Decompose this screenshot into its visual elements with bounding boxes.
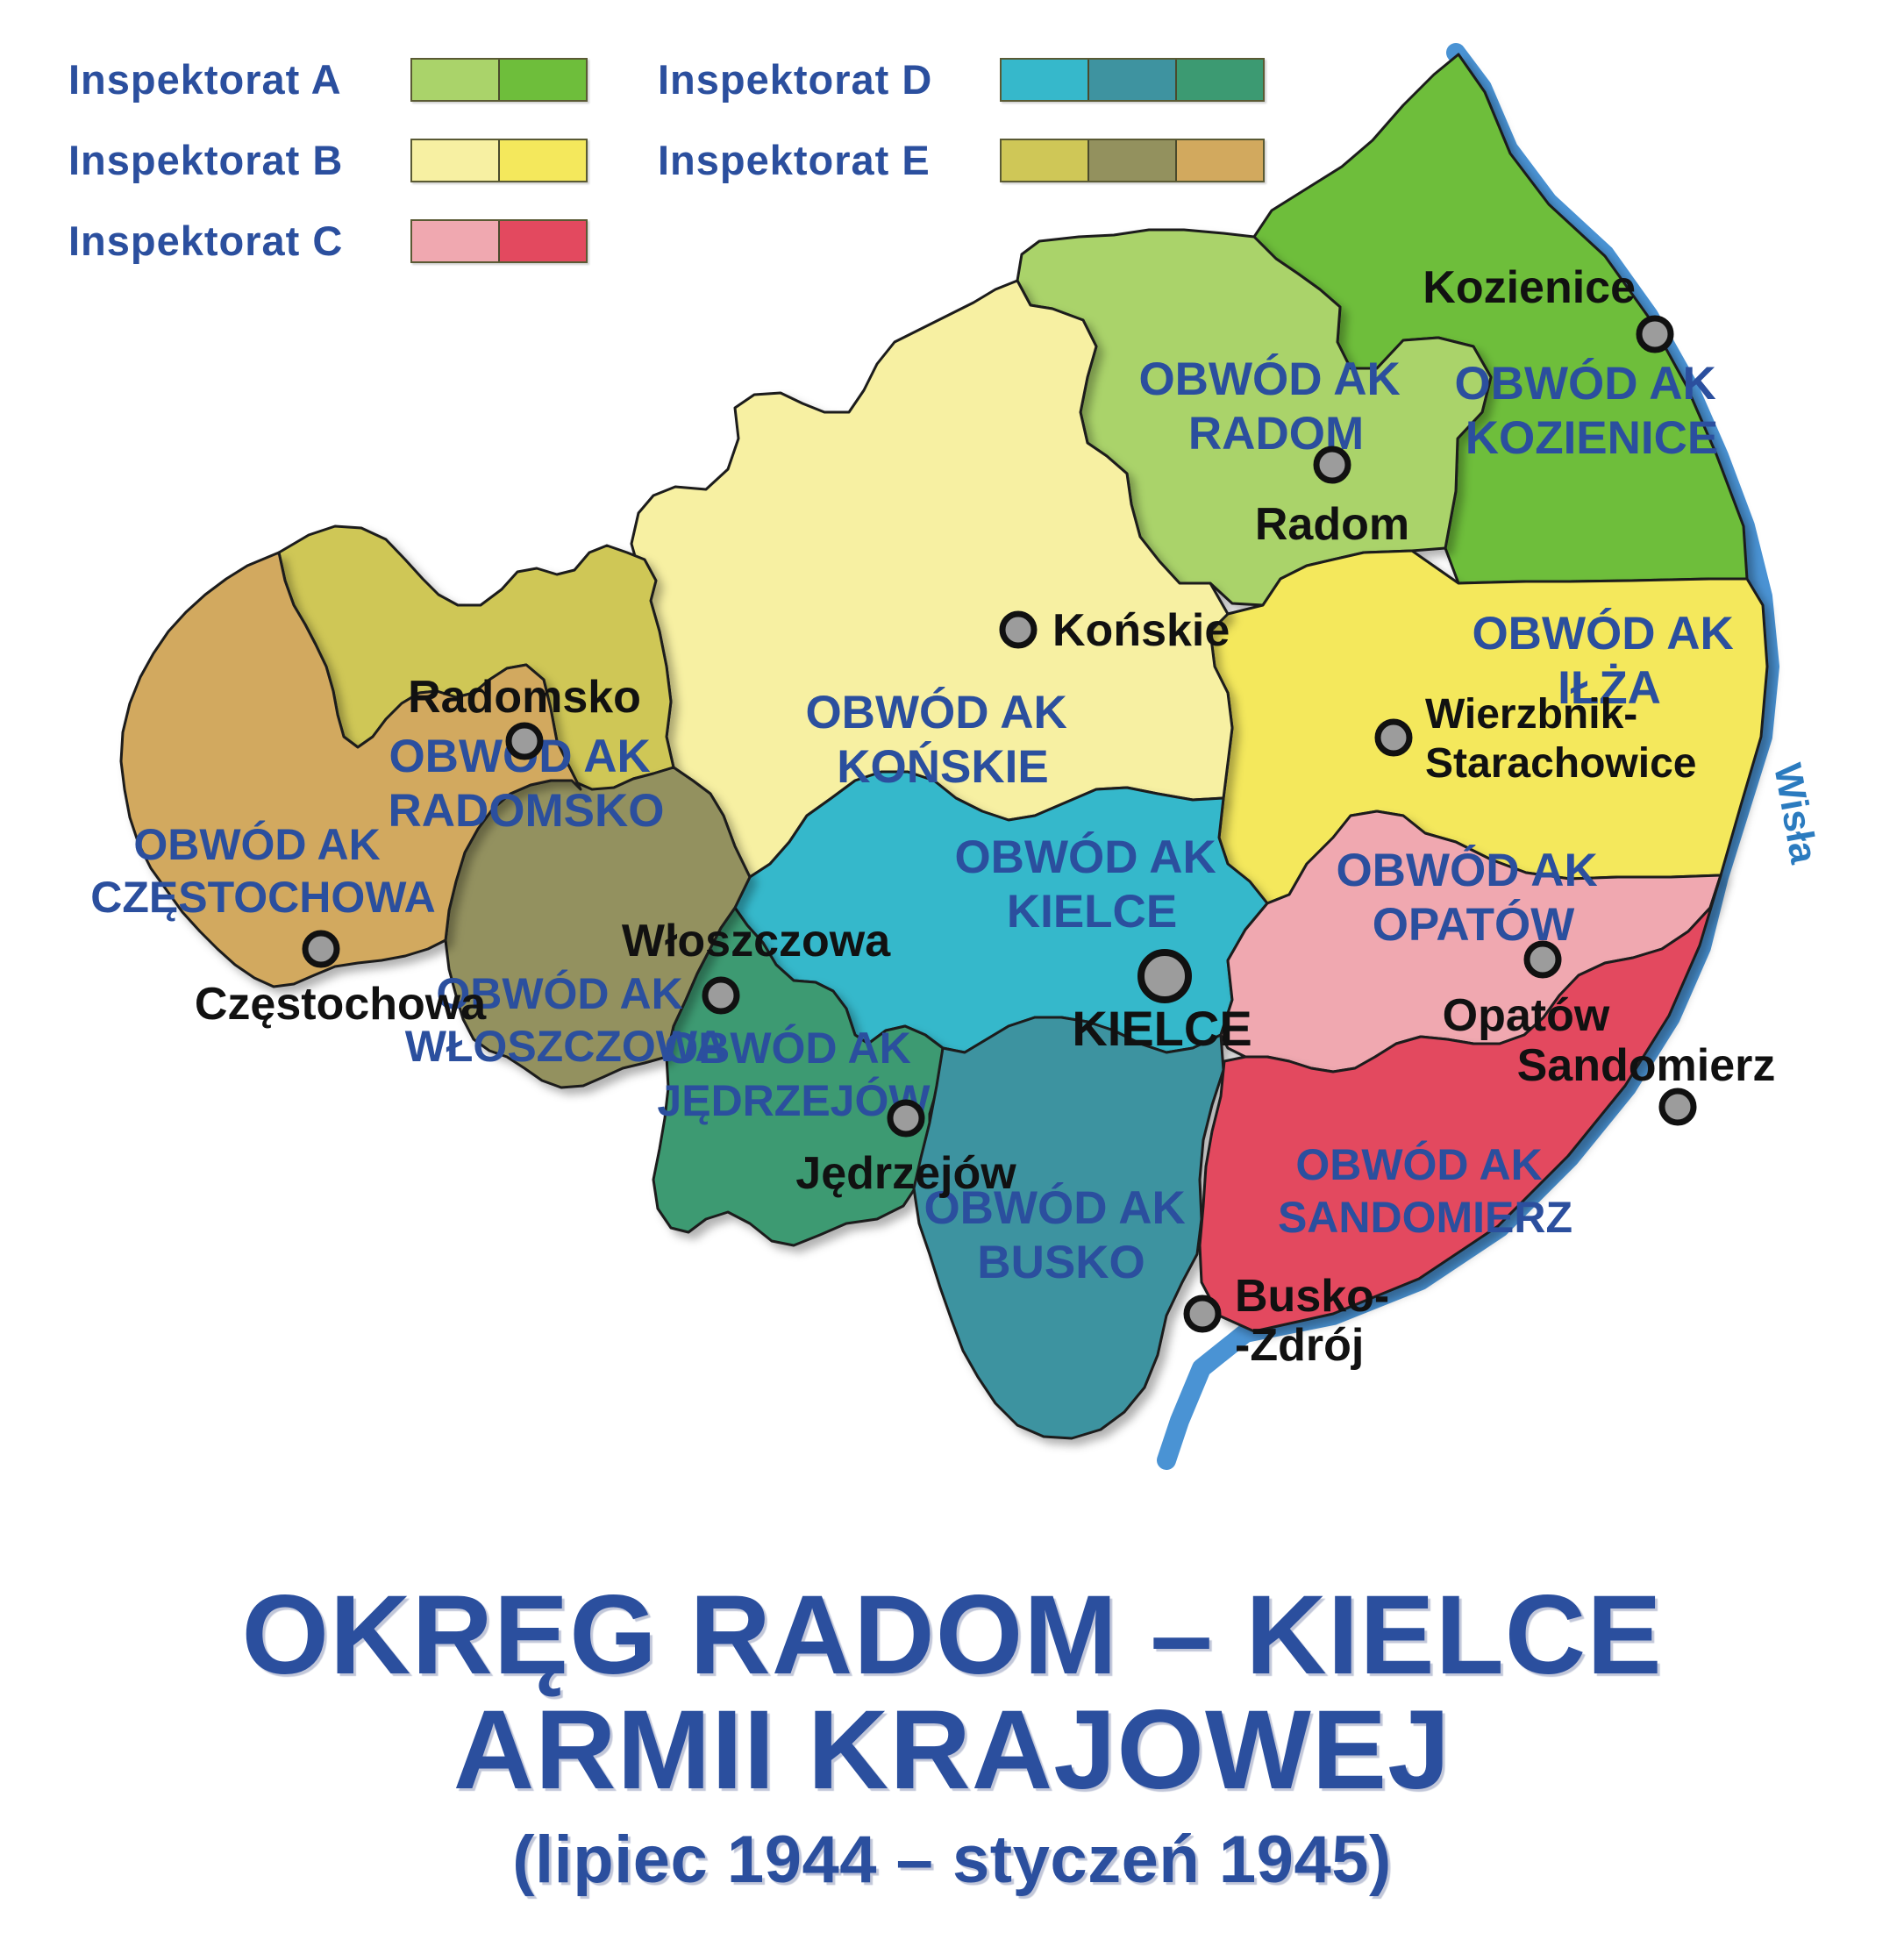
city-dot-radom[interactable] [1316,449,1348,481]
map-canvas: OBWÓD AK RADOM OBWÓD AK KOZIENICE OBWÓD … [0,0,1904,1579]
title-line-2: ARMII KRAJOWEJ [0,1694,1904,1808]
title-line-1: OKRĘG RADOM – KIELCE [0,1579,1904,1694]
map-title-block: OKRĘG RADOM – KIELCE ARMII KRAJOWEJ (lip… [0,1579,1904,1898]
city-dot-wierzbnik-starachowice[interactable] [1378,722,1409,753]
city-dot-kielce[interactable] [1141,952,1188,1000]
city-label-busko-zdroj: Busko- -Zdrój [1235,1271,1402,1371]
city-dot-wloszczowa[interactable] [705,980,737,1011]
city-dot-jedrzejow[interactable] [890,1102,922,1134]
wisla-river-label: Wisła [1765,760,1825,867]
city-dot-radomsko[interactable] [509,725,540,757]
city-dot-kozienice[interactable] [1639,318,1671,350]
city-label-wloszczowa: Włoszczowa [622,916,891,966]
city-dot-busko-zdroj[interactable] [1187,1298,1218,1330]
city-label-radomsko: Radomsko [408,672,641,723]
city-dot-opatow[interactable] [1527,944,1558,975]
city-label-sandomierz: Sandomierz [1517,1040,1776,1091]
city-label-opatow: Opatów [1443,990,1610,1041]
city-label-czestochowa: Częstochowa [195,979,487,1030]
city-label-konskie: Końskie [1052,605,1230,656]
city-dot-sandomierz[interactable] [1662,1091,1694,1123]
city-dot-czestochowa[interactable] [305,933,337,965]
city-label-radom: Radom [1255,499,1409,550]
city-dot-konskie[interactable] [1002,614,1034,646]
city-label-kozienice: Kozienice [1423,262,1636,313]
city-label-jedrzejow: Jędrzejów [795,1148,1016,1199]
city-label-kielce: KIELCE [1072,1001,1252,1056]
title-line-3: (lipiec 1944 – styczeń 1945) [0,1822,1904,1898]
